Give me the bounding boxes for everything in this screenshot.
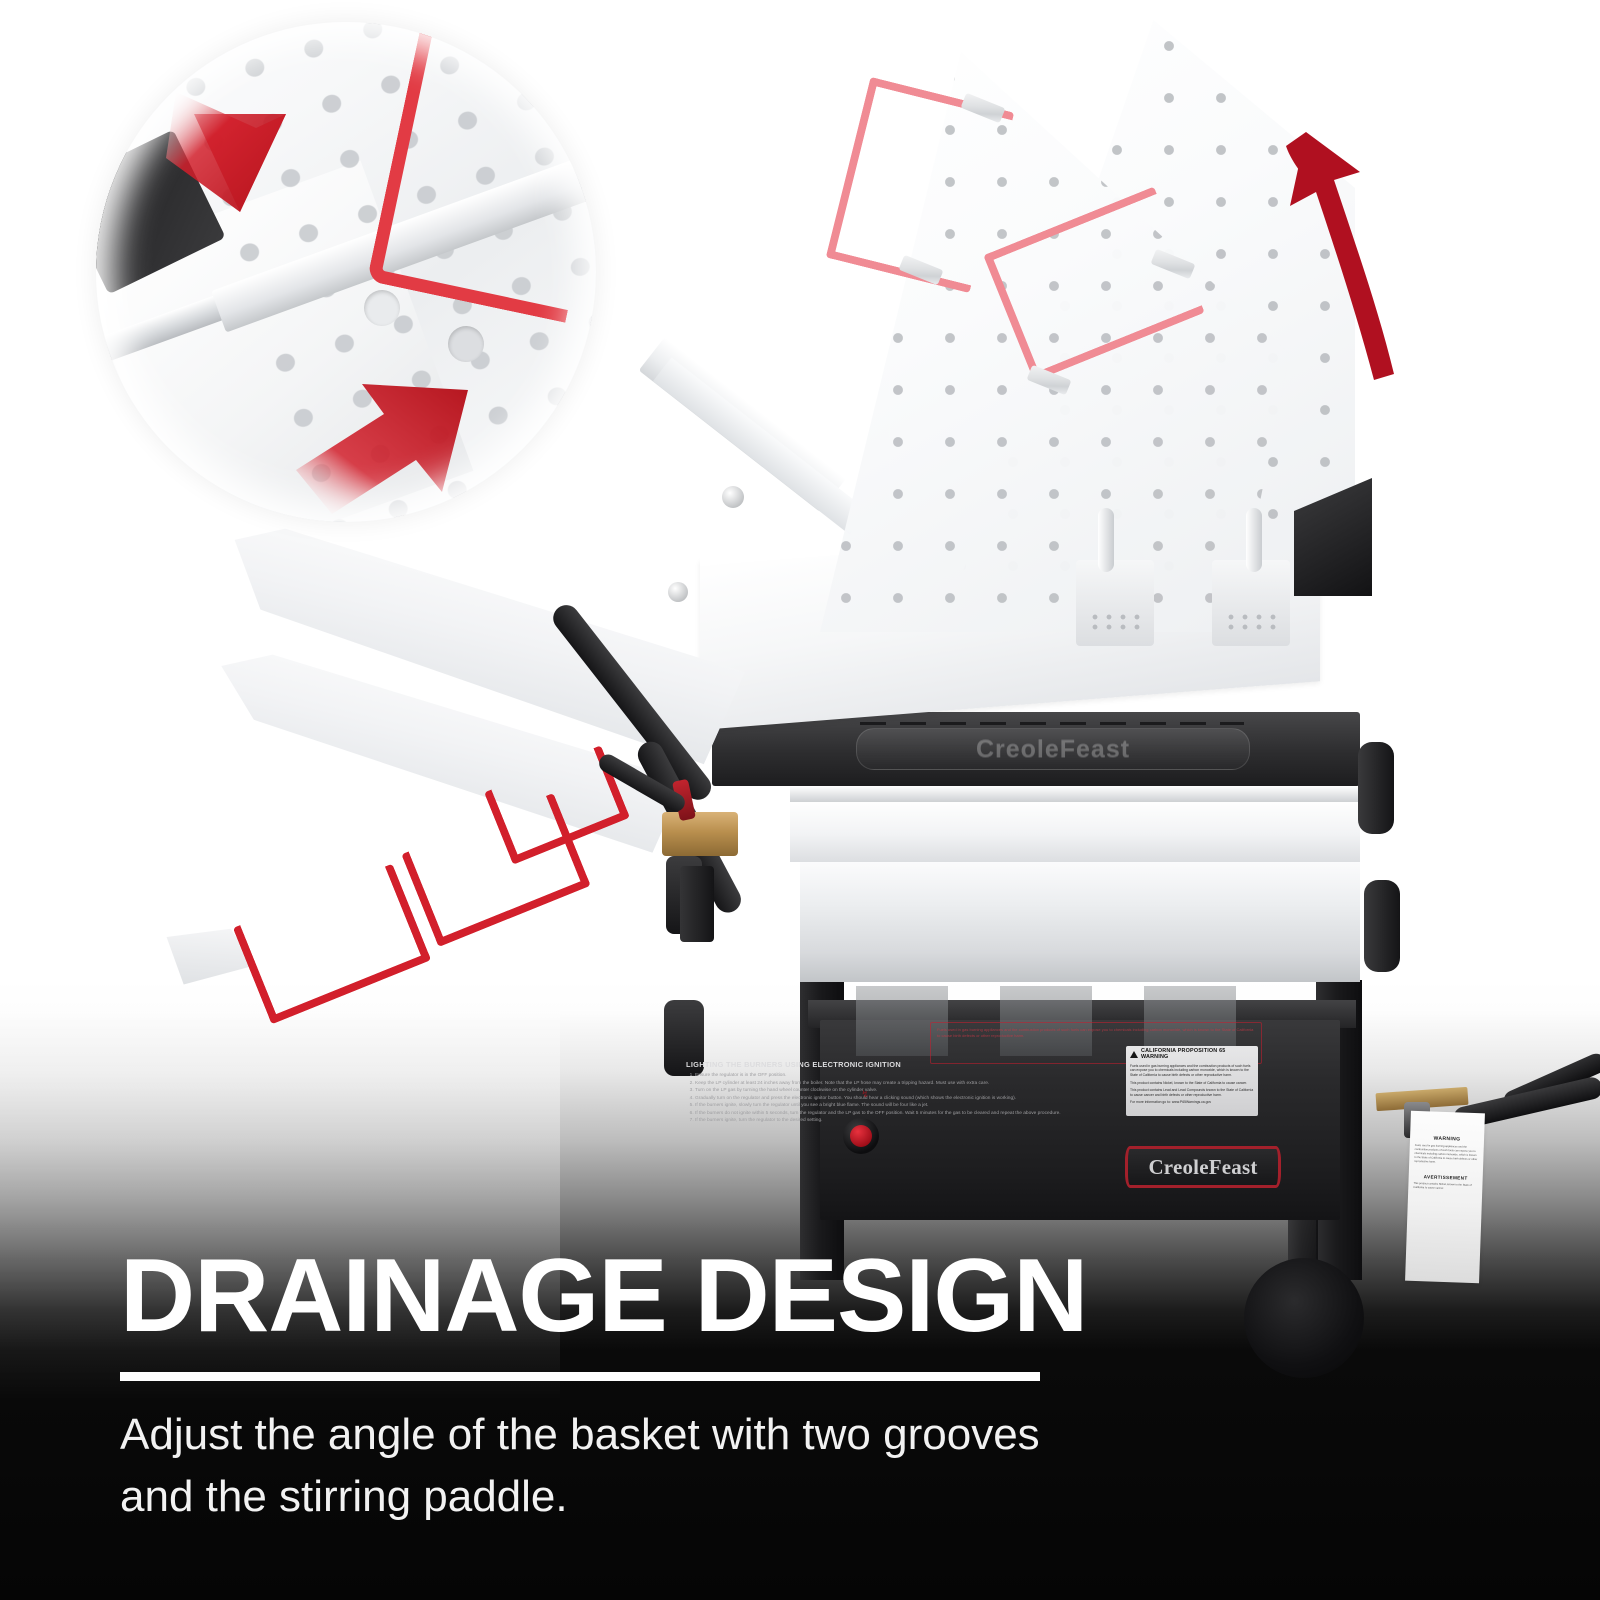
side-bracket bbox=[680, 866, 714, 942]
instruction-step: Gradually turn on the regulator and pres… bbox=[695, 1095, 1086, 1102]
lighting-instructions-heading: LIGHTING THE BURNERS USING ELECTRONIC IG… bbox=[686, 1060, 1086, 1069]
prop65-item: For more information go to: www.P65Warni… bbox=[1130, 1100, 1254, 1105]
prop65-warning-label: CALIFORNIA PROPOSITION 65 WARNING Fuels … bbox=[1126, 1046, 1258, 1116]
page-title: DRAINAGE DESIGN bbox=[120, 1244, 1087, 1348]
prop65-item: Fuels used in gas burning appliances and… bbox=[1130, 1064, 1254, 1078]
instruction-step: If the burners do not ignite within 5 se… bbox=[695, 1110, 1086, 1117]
product-feature-image: CreoleFeast bbox=[0, 0, 1600, 1600]
subtitle-line-2: and the stirring paddle. bbox=[120, 1466, 1240, 1528]
hang-tag-body-fr: This product contains Nickel, known to t… bbox=[1408, 1179, 1482, 1195]
prop65-item: This product contains Lead and Lead Comp… bbox=[1130, 1088, 1254, 1097]
warning-triangle-icon bbox=[1130, 1051, 1138, 1058]
ignition-button-cap bbox=[850, 1125, 872, 1147]
lid-lift-arm-secondary bbox=[653, 357, 868, 535]
stirring-paddle-blade bbox=[1076, 560, 1154, 646]
hang-tag-body: Fuels used in gas burning appliances and… bbox=[1409, 1141, 1484, 1169]
lid-brand-emboss: CreoleFeast bbox=[856, 728, 1250, 770]
prop65-heading: CALIFORNIA PROPOSITION 65 WARNING bbox=[1141, 1049, 1254, 1061]
ignition-spark-icon: ↯ bbox=[845, 1090, 885, 1114]
arm-pivot-bolt bbox=[722, 486, 744, 508]
instruction-step: Keep the LP cylinder at least 24 inches … bbox=[695, 1080, 1086, 1087]
lighting-instructions-list: Ensure the regulator is in the OFF posit… bbox=[686, 1072, 1086, 1125]
hang-tag: WARNING Fuels used in gas burning applia… bbox=[1405, 1111, 1485, 1283]
detail-zoom-inset bbox=[96, 22, 596, 522]
tool-holder-lower bbox=[1364, 880, 1400, 972]
prop65-item: This product contains Nickel, known to t… bbox=[1130, 1081, 1254, 1086]
lighting-instructions: LIGHTING THE BURNERS USING ELECTRONIC IG… bbox=[686, 1060, 1086, 1138]
brand-logo-badge: CreoleFeast bbox=[1125, 1146, 1281, 1188]
tool-holder-upper bbox=[1358, 742, 1394, 834]
fryer-vat-lip bbox=[790, 786, 1362, 802]
page-subtitle: Adjust the angle of the basket with two … bbox=[120, 1404, 1240, 1529]
instruction-step: If the burners ignite, turn the regulato… bbox=[695, 1117, 1086, 1124]
instruction-step: Turn on the LP gas by turning the hand w… bbox=[695, 1087, 1086, 1094]
warning-red-box-text: Fuels used in gas burning appliances and… bbox=[931, 1023, 1261, 1043]
fryer-vat-mid bbox=[790, 800, 1360, 862]
prop65-heading-row: CALIFORNIA PROPOSITION 65 WARNING bbox=[1130, 1049, 1254, 1061]
brand-logo-text: CreoleFeast bbox=[1148, 1155, 1257, 1180]
instruction-step: Ensure the regulator is in the OFF posit… bbox=[695, 1072, 1086, 1079]
lift-direction-arrow-icon bbox=[1228, 112, 1428, 382]
ignition-button[interactable] bbox=[843, 1118, 879, 1154]
brass-drain-valve[interactable] bbox=[662, 812, 738, 856]
subtitle-line-1: Adjust the angle of the basket with two … bbox=[120, 1404, 1240, 1466]
arm-pivot-bolt bbox=[668, 582, 688, 602]
lid-vent-slits bbox=[860, 722, 1244, 725]
stirring-paddle-blade bbox=[1212, 560, 1290, 646]
title-underline-rule bbox=[120, 1372, 1040, 1381]
fryer-vat-front bbox=[800, 860, 1360, 982]
stirring-paddle-shaft bbox=[1246, 508, 1262, 572]
stirring-paddle-shaft bbox=[1098, 508, 1114, 572]
cart-wheel bbox=[1244, 1258, 1364, 1378]
inset-edge-vignette bbox=[96, 22, 596, 522]
instruction-step: If the burners ignite, slowly turn the r… bbox=[695, 1102, 1086, 1109]
tray-handle-near[interactable] bbox=[233, 864, 431, 1025]
